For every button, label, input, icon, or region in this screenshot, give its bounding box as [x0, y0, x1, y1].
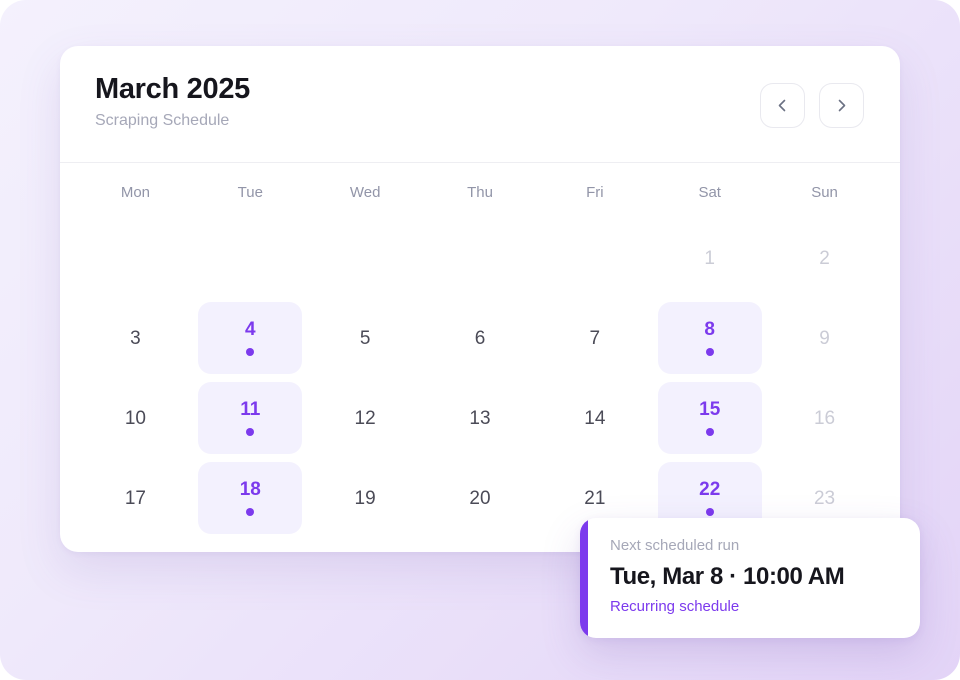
day-number: 8 [704, 320, 715, 339]
calendar-day-7[interactable]: 7 [537, 298, 652, 378]
calendar-day-3[interactable]: 3 [78, 298, 193, 378]
day-inner: 11 [198, 382, 302, 454]
recurring-schedule-link[interactable]: Recurring schedule [610, 599, 739, 616]
weekday-header-row: MonTueWedThuFriSatSun [60, 177, 900, 208]
day-number: 18 [240, 480, 261, 499]
calendar-day-1[interactable]: 1 [652, 218, 767, 298]
scheduled-event-dot [246, 348, 254, 356]
calendar-day-4[interactable]: 4 [193, 298, 308, 378]
calendar-day-empty [78, 218, 193, 298]
weekday-label-tue: Tue [193, 177, 308, 208]
day-number: 10 [125, 409, 146, 428]
calendar-day-5[interactable]: 5 [308, 298, 423, 378]
day-inner: 4 [198, 302, 302, 374]
scheduled-event-dot [246, 428, 254, 436]
prev-month-button[interactable] [760, 83, 805, 128]
tooltip-accent-bar [580, 518, 588, 638]
day-number: 7 [590, 329, 601, 348]
day-number: 2 [819, 249, 830, 268]
day-inner: 12 [313, 382, 417, 454]
day-number: 13 [469, 409, 490, 428]
day-inner: 7 [543, 302, 647, 374]
day-number: 9 [819, 329, 830, 348]
day-inner: 18 [198, 462, 302, 534]
calendar-day-9[interactable]: 9 [767, 298, 882, 378]
day-inner: 2 [773, 222, 877, 294]
calendar-day-18[interactable]: 18 [193, 458, 308, 538]
calendar-day-empty [423, 218, 538, 298]
day-number: 5 [360, 329, 371, 348]
calendar-day-11[interactable]: 11 [193, 378, 308, 458]
chevron-right-icon [833, 97, 850, 114]
calendar-card: March 2025 Scraping Schedule [60, 46, 900, 552]
calendar-day-12[interactable]: 12 [308, 378, 423, 458]
weekday-label-sat: Sat [652, 177, 767, 208]
calendar-day-empty [308, 218, 423, 298]
weekday-label-sun: Sun [767, 177, 882, 208]
day-number: 20 [469, 489, 490, 508]
day-inner: 16 [773, 382, 877, 454]
day-inner: 20 [428, 462, 532, 534]
weekday-label-thu: Thu [423, 177, 538, 208]
weekday-label-fri: Fri [537, 177, 652, 208]
calendar-day-13[interactable]: 13 [423, 378, 538, 458]
scheduled-event-dot [246, 508, 254, 516]
day-inner: 9 [773, 302, 877, 374]
tooltip-body: Next scheduled run Tue, Mar 8 · 10:00 AM… [588, 518, 920, 638]
day-number: 22 [699, 480, 720, 499]
calendar-day-19[interactable]: 19 [308, 458, 423, 538]
day-inner: 15 [658, 382, 762, 454]
tooltip-label: Next scheduled run [610, 538, 920, 555]
calendar-day-16[interactable]: 16 [767, 378, 882, 458]
calendar-day-empty [537, 218, 652, 298]
calendar-day-15[interactable]: 15 [652, 378, 767, 458]
day-number: 17 [125, 489, 146, 508]
next-month-button[interactable] [819, 83, 864, 128]
day-inner: 10 [83, 382, 187, 454]
next-run-tooltip: Next scheduled run Tue, Mar 8 · 10:00 AM… [580, 518, 920, 638]
month-nav [760, 83, 864, 128]
calendar-day-17[interactable]: 17 [78, 458, 193, 538]
day-inner: 8 [658, 302, 762, 374]
day-number: 1 [704, 249, 715, 268]
day-number: 11 [240, 400, 260, 419]
calendar-day-grid: 1234567891011121314151617181920212223 [60, 208, 900, 538]
calendar-subtitle: Scraping Schedule [95, 112, 250, 130]
day-number: 14 [584, 409, 605, 428]
scheduled-event-dot [706, 428, 714, 436]
page-background: March 2025 Scraping Schedule [0, 0, 960, 680]
day-inner: 1 [658, 222, 762, 294]
day-inner: 5 [313, 302, 417, 374]
calendar-day-8[interactable]: 8 [652, 298, 767, 378]
calendar-day-2[interactable]: 2 [767, 218, 882, 298]
calendar-day-14[interactable]: 14 [537, 378, 652, 458]
calendar-day-20[interactable]: 20 [423, 458, 538, 538]
tooltip-value: Tue, Mar 8 · 10:00 AM [610, 564, 920, 590]
day-inner: 6 [428, 302, 532, 374]
weekday-label-wed: Wed [308, 177, 423, 208]
day-inner: 14 [543, 382, 647, 454]
scheduled-event-dot [706, 348, 714, 356]
day-number: 21 [584, 489, 605, 508]
calendar-day-6[interactable]: 6 [423, 298, 538, 378]
calendar-day-empty [193, 218, 308, 298]
day-number: 6 [475, 329, 486, 348]
day-inner: 19 [313, 462, 417, 534]
day-inner: 13 [428, 382, 532, 454]
page-title: March 2025 [95, 74, 250, 104]
calendar-header: March 2025 Scraping Schedule [60, 46, 900, 163]
day-number: 15 [699, 400, 720, 419]
day-inner: 17 [83, 462, 187, 534]
day-number: 3 [130, 329, 141, 348]
day-number: 23 [814, 489, 835, 508]
day-number: 16 [814, 409, 835, 428]
calendar-day-10[interactable]: 10 [78, 378, 193, 458]
weekday-label-mon: Mon [78, 177, 193, 208]
day-number: 4 [245, 320, 256, 339]
day-number: 12 [355, 409, 376, 428]
scheduled-event-dot [706, 508, 714, 516]
chevron-left-icon [774, 97, 791, 114]
day-inner: 3 [83, 302, 187, 374]
title-block: March 2025 Scraping Schedule [95, 74, 250, 130]
day-number: 19 [355, 489, 376, 508]
